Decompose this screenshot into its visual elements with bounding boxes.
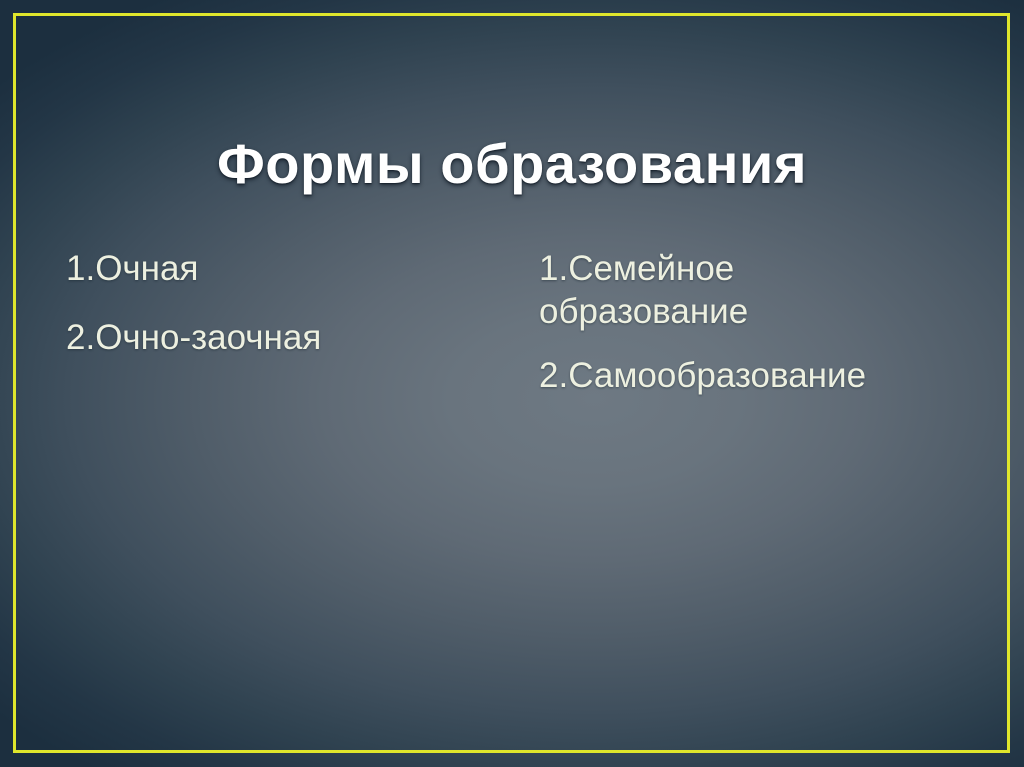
slide-title: Формы образования	[0, 134, 1024, 194]
list-item: 2.Самообразование	[539, 355, 984, 398]
slide-body-columns: 1.Очная 2.Очно-заочная 1.Семейное образо…	[0, 248, 1024, 478]
presentation-slide: Формы образования 1.Очная 2.Очно-заочная…	[0, 0, 1024, 767]
list-item: 1.Семейное образование	[539, 248, 869, 333]
list-item: 1.Очная	[66, 248, 458, 291]
bullet-column-right: 1.Семейное образование 2.Самообразование	[470, 248, 1024, 420]
bullet-column-left: 1.Очная 2.Очно-заочная	[0, 248, 470, 385]
list-item: 2.Очно-заочная	[66, 317, 458, 360]
